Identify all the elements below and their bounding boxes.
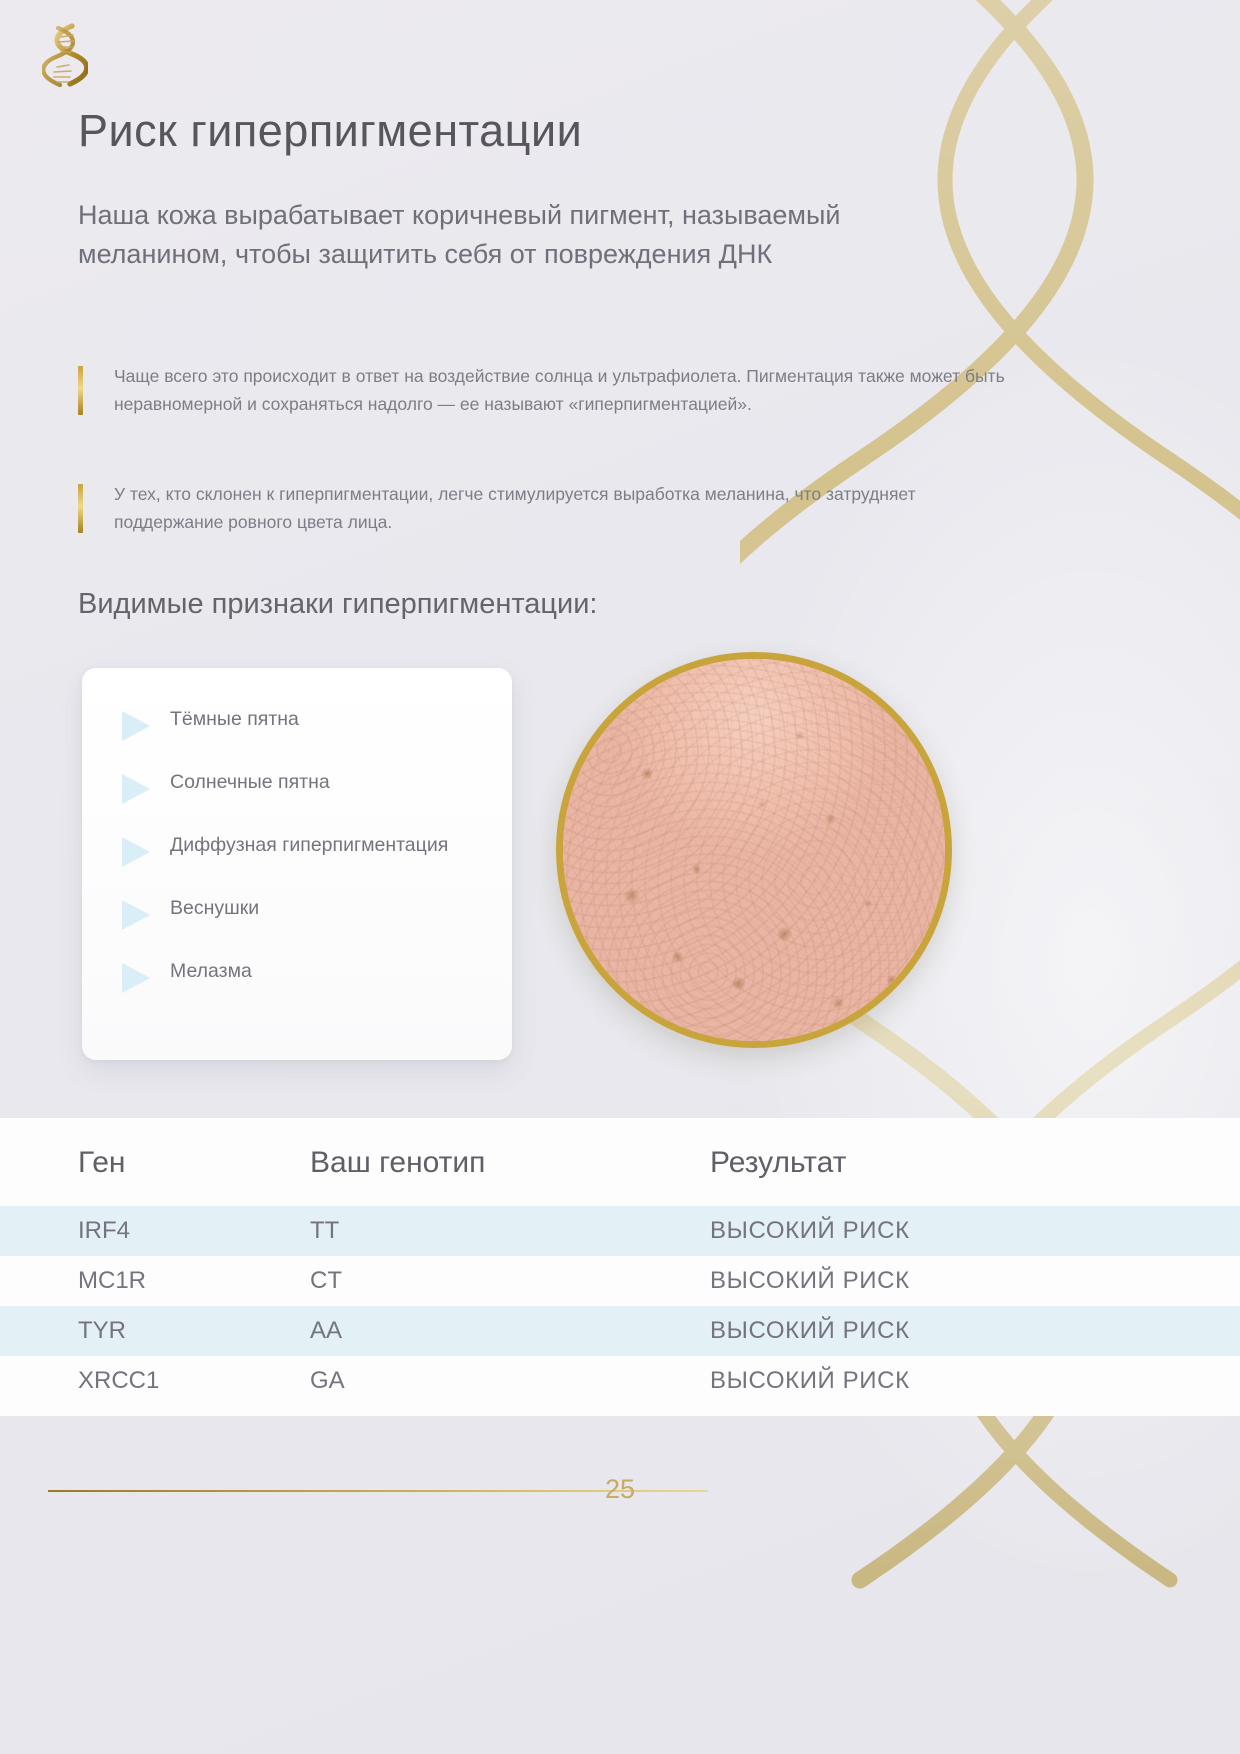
cell-genotype: AA	[310, 1306, 710, 1356]
cell-gene: XRCC1	[0, 1356, 310, 1406]
triangle-right-icon	[122, 963, 150, 993]
status-badge: ВЫСОКИЙ РИСК	[710, 1356, 1240, 1406]
list-item: Солнечные пятна	[112, 769, 482, 804]
column-header-result: Результат	[710, 1118, 1240, 1206]
sign-label: Диффузная гиперпигментация	[170, 832, 448, 858]
table-row: MC1R CT ВЫСОКИЙ РИСК	[0, 1256, 1240, 1306]
list-item: Тёмные пятна	[112, 706, 482, 741]
sign-label: Мелазма	[170, 958, 252, 984]
quote-block-2: У тех, кто склонен к гиперпигментации, л…	[78, 480, 1008, 537]
cell-gene: MC1R	[0, 1256, 310, 1306]
column-header-genotype: Ваш генотип	[310, 1118, 710, 1206]
quote-block-1: Чаще всего это происходит в ответ на воз…	[78, 362, 1008, 419]
list-item: Мелазма	[112, 958, 482, 993]
cell-genotype: GA	[310, 1356, 710, 1406]
triangle-right-icon	[122, 837, 150, 867]
sign-label: Тёмные пятна	[170, 706, 299, 732]
skin-photo-texture	[563, 659, 945, 1041]
list-item: Диффузная гиперпигментация	[112, 832, 482, 867]
cell-genotype: TT	[310, 1206, 710, 1256]
list-item: Веснушки	[112, 895, 482, 930]
status-badge: ВЫСОКИЙ РИСК	[710, 1206, 1240, 1256]
status-badge: ВЫСОКИЙ РИСК	[710, 1256, 1240, 1306]
table-header-row: Ген Ваш генотип Результат	[0, 1118, 1240, 1206]
skin-photo-circle	[556, 652, 952, 1048]
sign-label: Солнечные пятна	[170, 769, 330, 795]
visible-signs-heading: Видимые признаки гиперпигментации:	[78, 588, 598, 621]
column-header-gene: Ген	[0, 1118, 310, 1206]
page-footer: 25	[0, 1490, 1240, 1754]
table-row: IRF4 TT ВЫСОКИЙ РИСК	[0, 1206, 1240, 1256]
cell-gene: TYR	[0, 1306, 310, 1356]
genetic-results-table: Ген Ваш генотип Результат IRF4 TT ВЫСОКИ…	[0, 1118, 1240, 1416]
cell-genotype: CT	[310, 1256, 710, 1306]
status-badge: ВЫСОКИЙ РИСК	[710, 1306, 1240, 1356]
triangle-right-icon	[122, 900, 150, 930]
page-subtitle: Наша кожа вырабатывает коричневый пигмен…	[78, 196, 958, 274]
visible-signs-card: Тёмные пятна Солнечные пятна Диффузная г…	[82, 668, 512, 1060]
page-title: Риск гиперпигментации	[78, 105, 582, 157]
cell-gene: IRF4	[0, 1206, 310, 1256]
page-number: 25	[0, 1474, 1240, 1505]
dna-helix-icon	[42, 22, 88, 88]
triangle-right-icon	[122, 711, 150, 741]
table-row: XRCC1 GA ВЫСОКИЙ РИСК	[0, 1356, 1240, 1406]
sign-label: Веснушки	[170, 895, 259, 921]
table-row: TYR AA ВЫСОКИЙ РИСК	[0, 1306, 1240, 1356]
triangle-right-icon	[122, 774, 150, 804]
